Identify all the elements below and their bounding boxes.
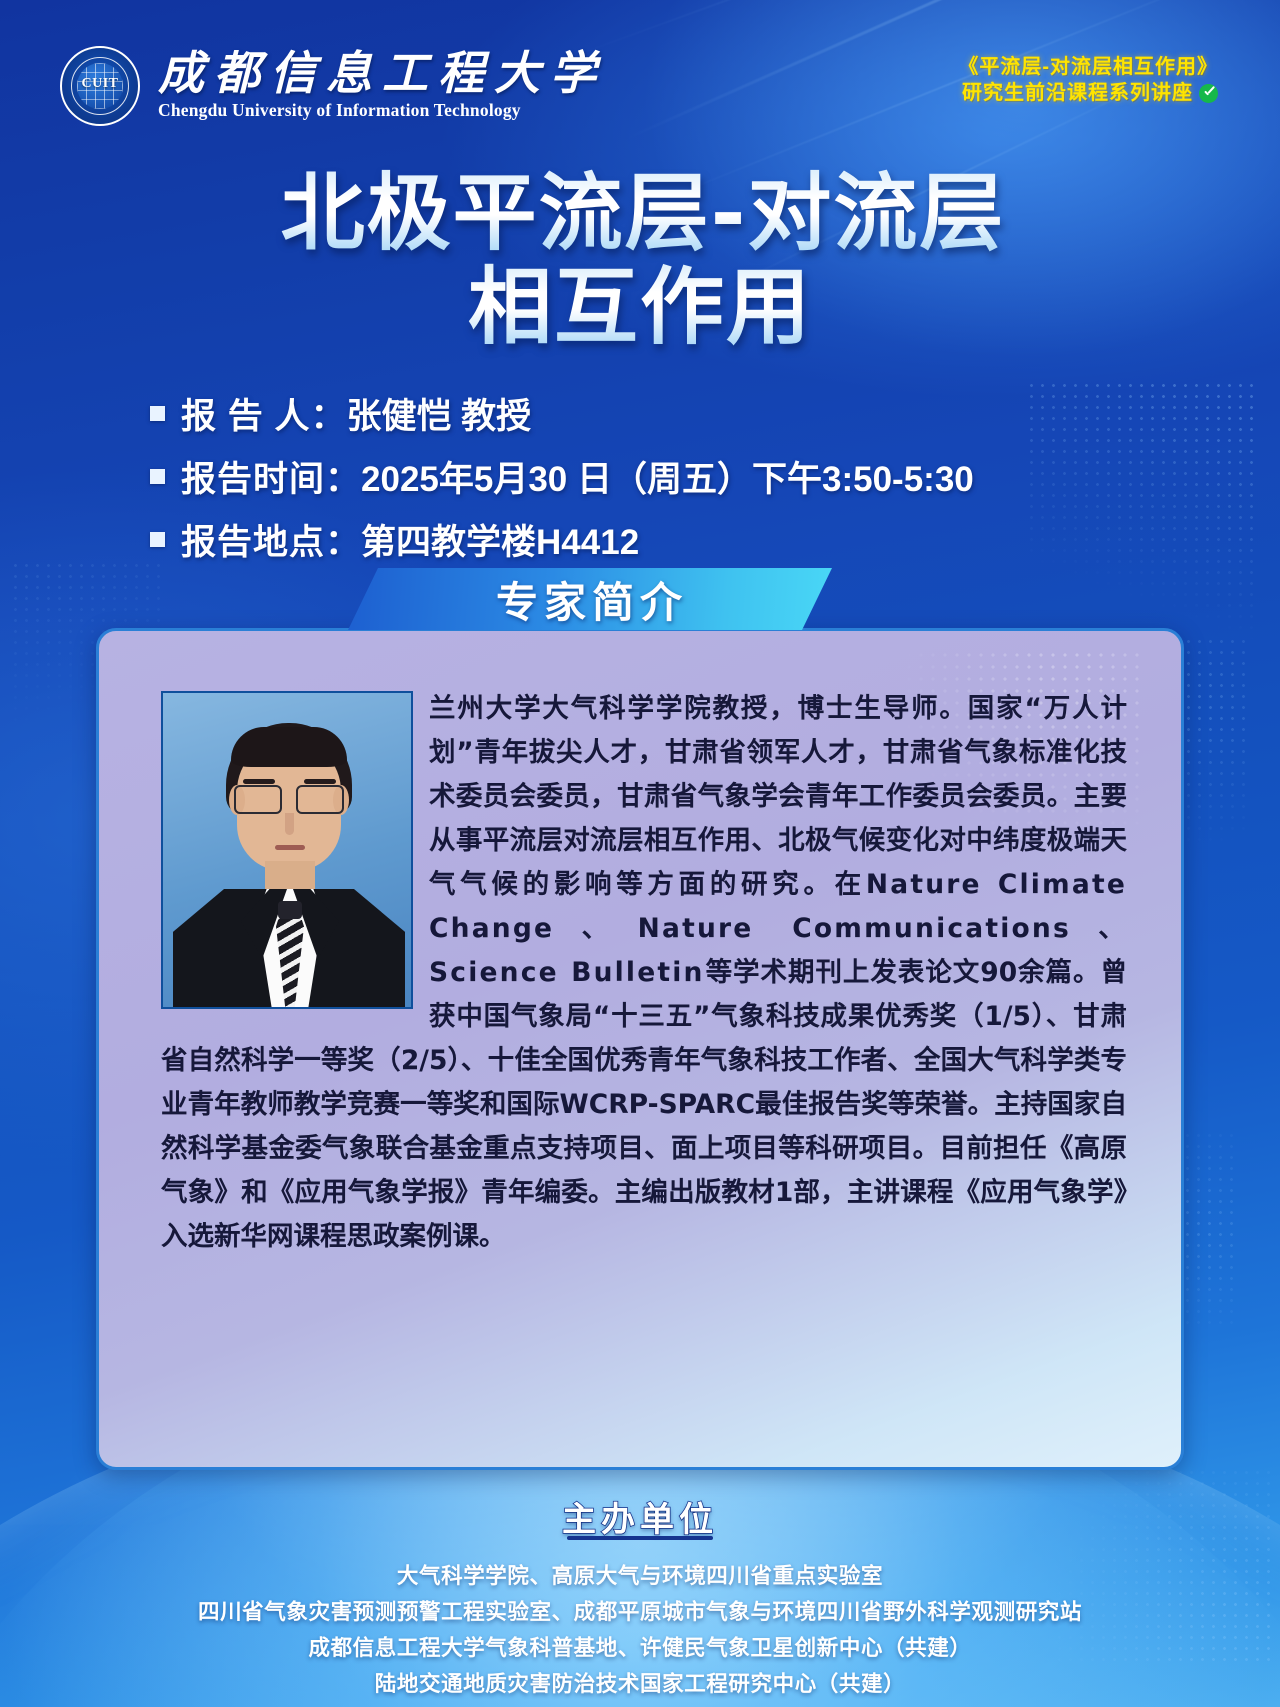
host-org-line: 大气科学学院、高原大气与环境四川省重点实验室 (0, 1558, 1280, 1594)
university-crest-icon: CUIT (60, 46, 140, 126)
host-org-line: 四川省气象灾害预测预警工程实验室、成都平原城市气象与环境四川省野外科学观测研究站 (0, 1594, 1280, 1630)
expert-profile-banner: 专家简介 (348, 568, 832, 630)
speaker-photo (161, 691, 413, 1009)
title-line-2: 相互作用 (0, 260, 1280, 354)
hosts-heading: 主办单位 (0, 1492, 1280, 1541)
photo-fringe (231, 727, 347, 767)
speaker-value: 张健恺 教授 (346, 388, 531, 439)
photo-eyebrow-left (243, 779, 275, 784)
info-row-time: 报告时间： 2025年5月30 日（周五）下午3:50-5:30 (150, 451, 974, 502)
crest-acronym: CUIT (62, 76, 138, 92)
info-row-speaker: 报 告 人： 张健恺 教授 (150, 388, 974, 439)
host-org-line: 陆地交通地质灾害防治技术国家工程研究中心（共建） (0, 1666, 1280, 1702)
banner-label: 专家简介 (492, 569, 688, 630)
series-line-2: 研究生前沿课程系列讲座 (962, 80, 1193, 106)
photo-nose (285, 813, 294, 835)
speaker-label: 报 告 人： (181, 388, 346, 439)
hosts-heading-text: 主办单位 (562, 1501, 718, 1539)
time-value: 2025年5月30 日（周五）下午3:50-5:30 (361, 451, 974, 502)
university-name-block: 成都信息工程大学 Chengdu University of Informati… (158, 51, 606, 121)
info-row-place: 报告地点： 第四教学楼H4412 (150, 514, 974, 565)
check-badge-icon (1199, 84, 1218, 103)
poster-canvas: CUIT 成都信息工程大学 Chengdu University of Info… (0, 0, 1280, 1707)
poster-header: CUIT 成都信息工程大学 Chengdu University of Info… (0, 46, 1280, 150)
dot-pattern (1026, 380, 1256, 650)
place-value: 第四教学楼H4412 (361, 514, 639, 565)
square-bullet-icon (150, 469, 165, 484)
expert-profile-card: 兰州大学大气科学学院教授，博士生导师。国家“万人计划”青年拔尖人才，甘肃省领军人… (96, 628, 1184, 1470)
square-bullet-icon (150, 532, 165, 547)
university-name-cn: 成都信息工程大学 (158, 51, 606, 98)
square-bullet-icon (150, 406, 165, 421)
university-name-en: Chengdu University of Information Techno… (158, 100, 606, 121)
photo-eyebrow-right (304, 779, 336, 784)
photo-glasses (233, 785, 345, 811)
host-org-line: 成都信息工程大学气象科普基地、许健民气象卫星创新中心（共建） (0, 1630, 1280, 1666)
university-logo: CUIT 成都信息工程大学 Chengdu University of Info… (60, 46, 606, 126)
lecture-series-label: 《平流层-对流层相互作用》 研究生前沿课程系列讲座 (958, 54, 1218, 107)
photo-tie-knot (278, 901, 302, 919)
time-label: 报告时间： (181, 451, 361, 502)
page-title: 北极平流层-对流层 相互作用 (0, 166, 1280, 354)
event-info-list: 报 告 人： 张健恺 教授 报告时间： 2025年5月30 日（周五）下午3:5… (150, 388, 974, 577)
series-line-2-row: 研究生前沿课程系列讲座 (958, 80, 1218, 106)
series-line-1: 《平流层-对流层相互作用》 (958, 54, 1218, 80)
hosts-heading-underline (567, 1536, 713, 1540)
photo-mouth (275, 845, 305, 850)
title-line-1: 北极平流层-对流层 (0, 166, 1280, 260)
host-organizations-list: 大气科学学院、高原大气与环境四川省重点实验室 四川省气象灾害预测预警工程实验室、… (0, 1558, 1280, 1702)
place-label: 报告地点： (181, 514, 361, 565)
